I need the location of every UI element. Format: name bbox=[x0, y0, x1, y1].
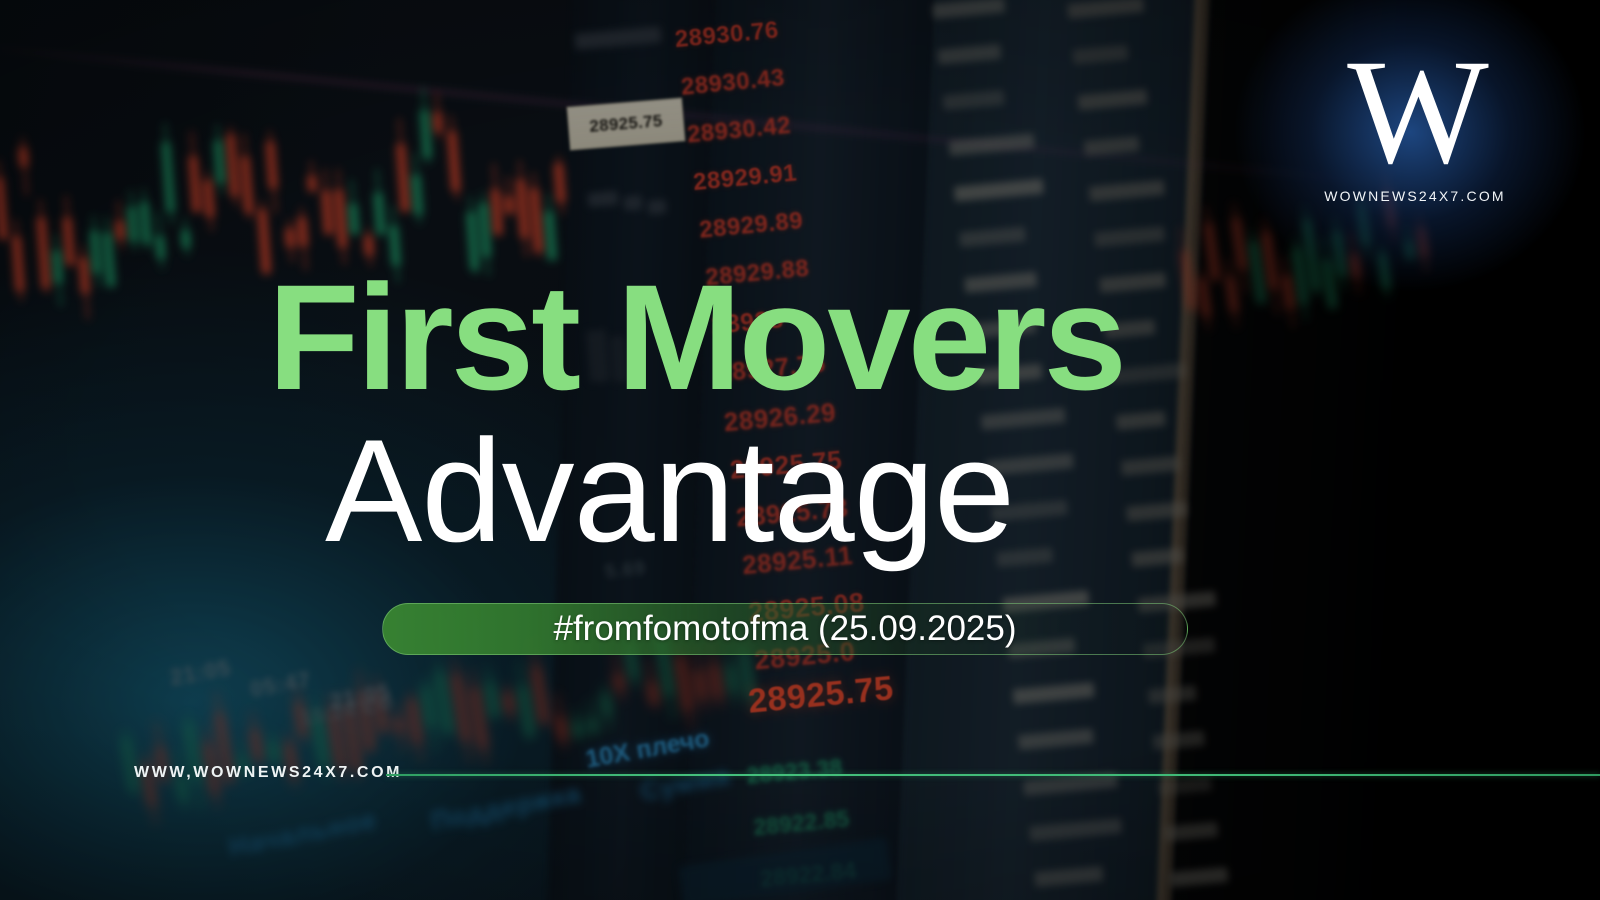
footer-divider-line bbox=[386, 774, 1600, 776]
logo-w-icon: W bbox=[1300, 42, 1530, 182]
footer-website-url: WWW,WOWNEWS24X7.COM bbox=[134, 764, 402, 782]
headline-line-1: First Movers bbox=[268, 262, 1124, 412]
hashtag-date-badge: #fromfomotofma (25.09.2025) bbox=[382, 603, 1188, 655]
headline-line-2: Advantage bbox=[325, 418, 1014, 564]
footer-bar: WWW,WOWNEWS24X7.COM bbox=[0, 762, 1600, 798]
overlay-content: First Movers Advantage #fromfomotofma (2… bbox=[0, 0, 1600, 900]
brand-logo: W WOWNEWS24X7.COM bbox=[1300, 42, 1530, 222]
promo-banner: 28925.75 28930.7628930.4328930.4228929.9… bbox=[0, 0, 1600, 900]
logo-wordmark: WOWNEWS24X7.COM bbox=[1300, 188, 1530, 204]
hashtag-date-badge-label: #fromfomotofma (25.09.2025) bbox=[553, 609, 1016, 649]
